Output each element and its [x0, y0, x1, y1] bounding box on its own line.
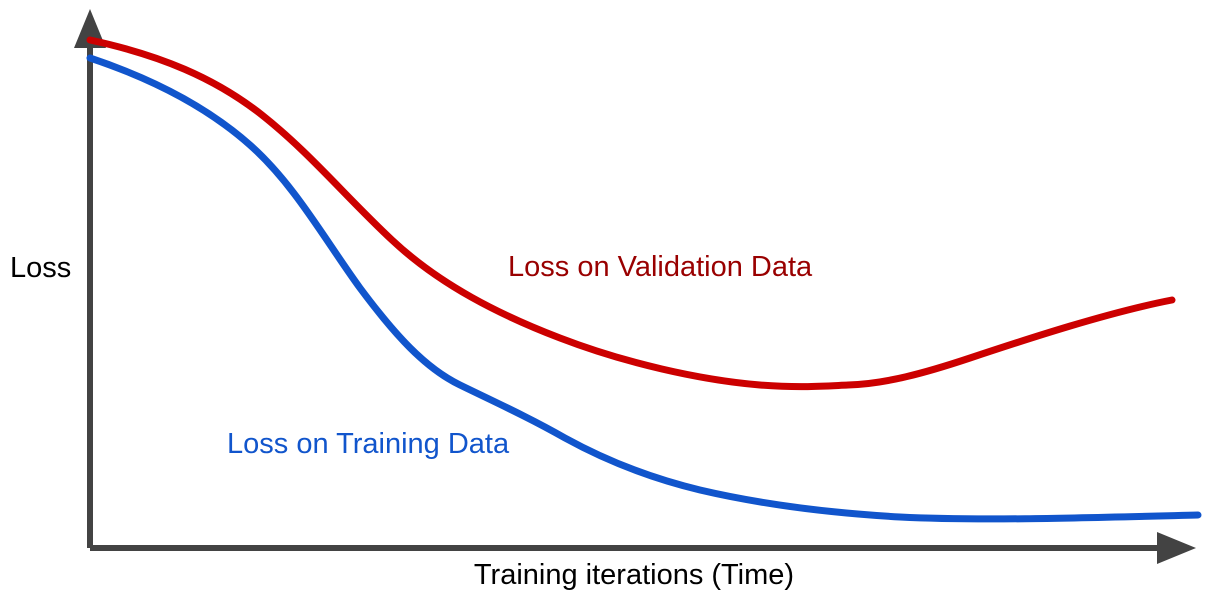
chart-background: [0, 0, 1206, 591]
training-series-label: Loss on Training Data: [227, 428, 510, 460]
validation-series-label: Loss on Validation Data: [508, 251, 813, 283]
loss-curve-chart: Loss Training iterations (Time) Loss on …: [0, 0, 1206, 591]
chart-canvas: Loss Training iterations (Time) Loss on …: [0, 0, 1206, 591]
y-axis-title: Loss: [10, 252, 71, 284]
x-axis-title: Training iterations (Time): [474, 559, 794, 591]
